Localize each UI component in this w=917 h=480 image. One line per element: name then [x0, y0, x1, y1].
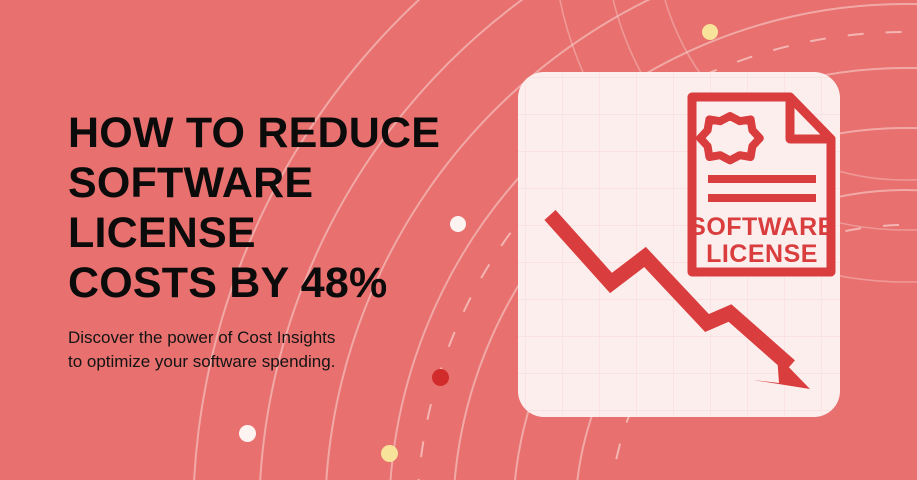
software-license-document-icon: SOFTWARE LICENSE [689, 97, 835, 272]
page-title: HOW TO REDUCE SOFTWARE LICENSE COSTS BY … [68, 108, 478, 308]
card-artwork: SOFTWARE LICENSE [518, 72, 840, 417]
document-title-line-2: LICENSE [706, 240, 818, 268]
decor-dot-yellow-bottom [381, 445, 398, 462]
text-column: HOW TO REDUCE SOFTWARE LICENSE COSTS BY … [68, 108, 478, 374]
decor-dot-white-bottom [239, 425, 256, 442]
decor-dot-yellow-top [702, 24, 718, 40]
document-title-line-1: SOFTWARE [689, 213, 835, 241]
illustration-card: SOFTWARE LICENSE [518, 72, 840, 417]
subtitle: Discover the power of Cost Insights to o… [68, 326, 478, 374]
promo-banner: HOW TO REDUCE SOFTWARE LICENSE COSTS BY … [0, 0, 917, 480]
